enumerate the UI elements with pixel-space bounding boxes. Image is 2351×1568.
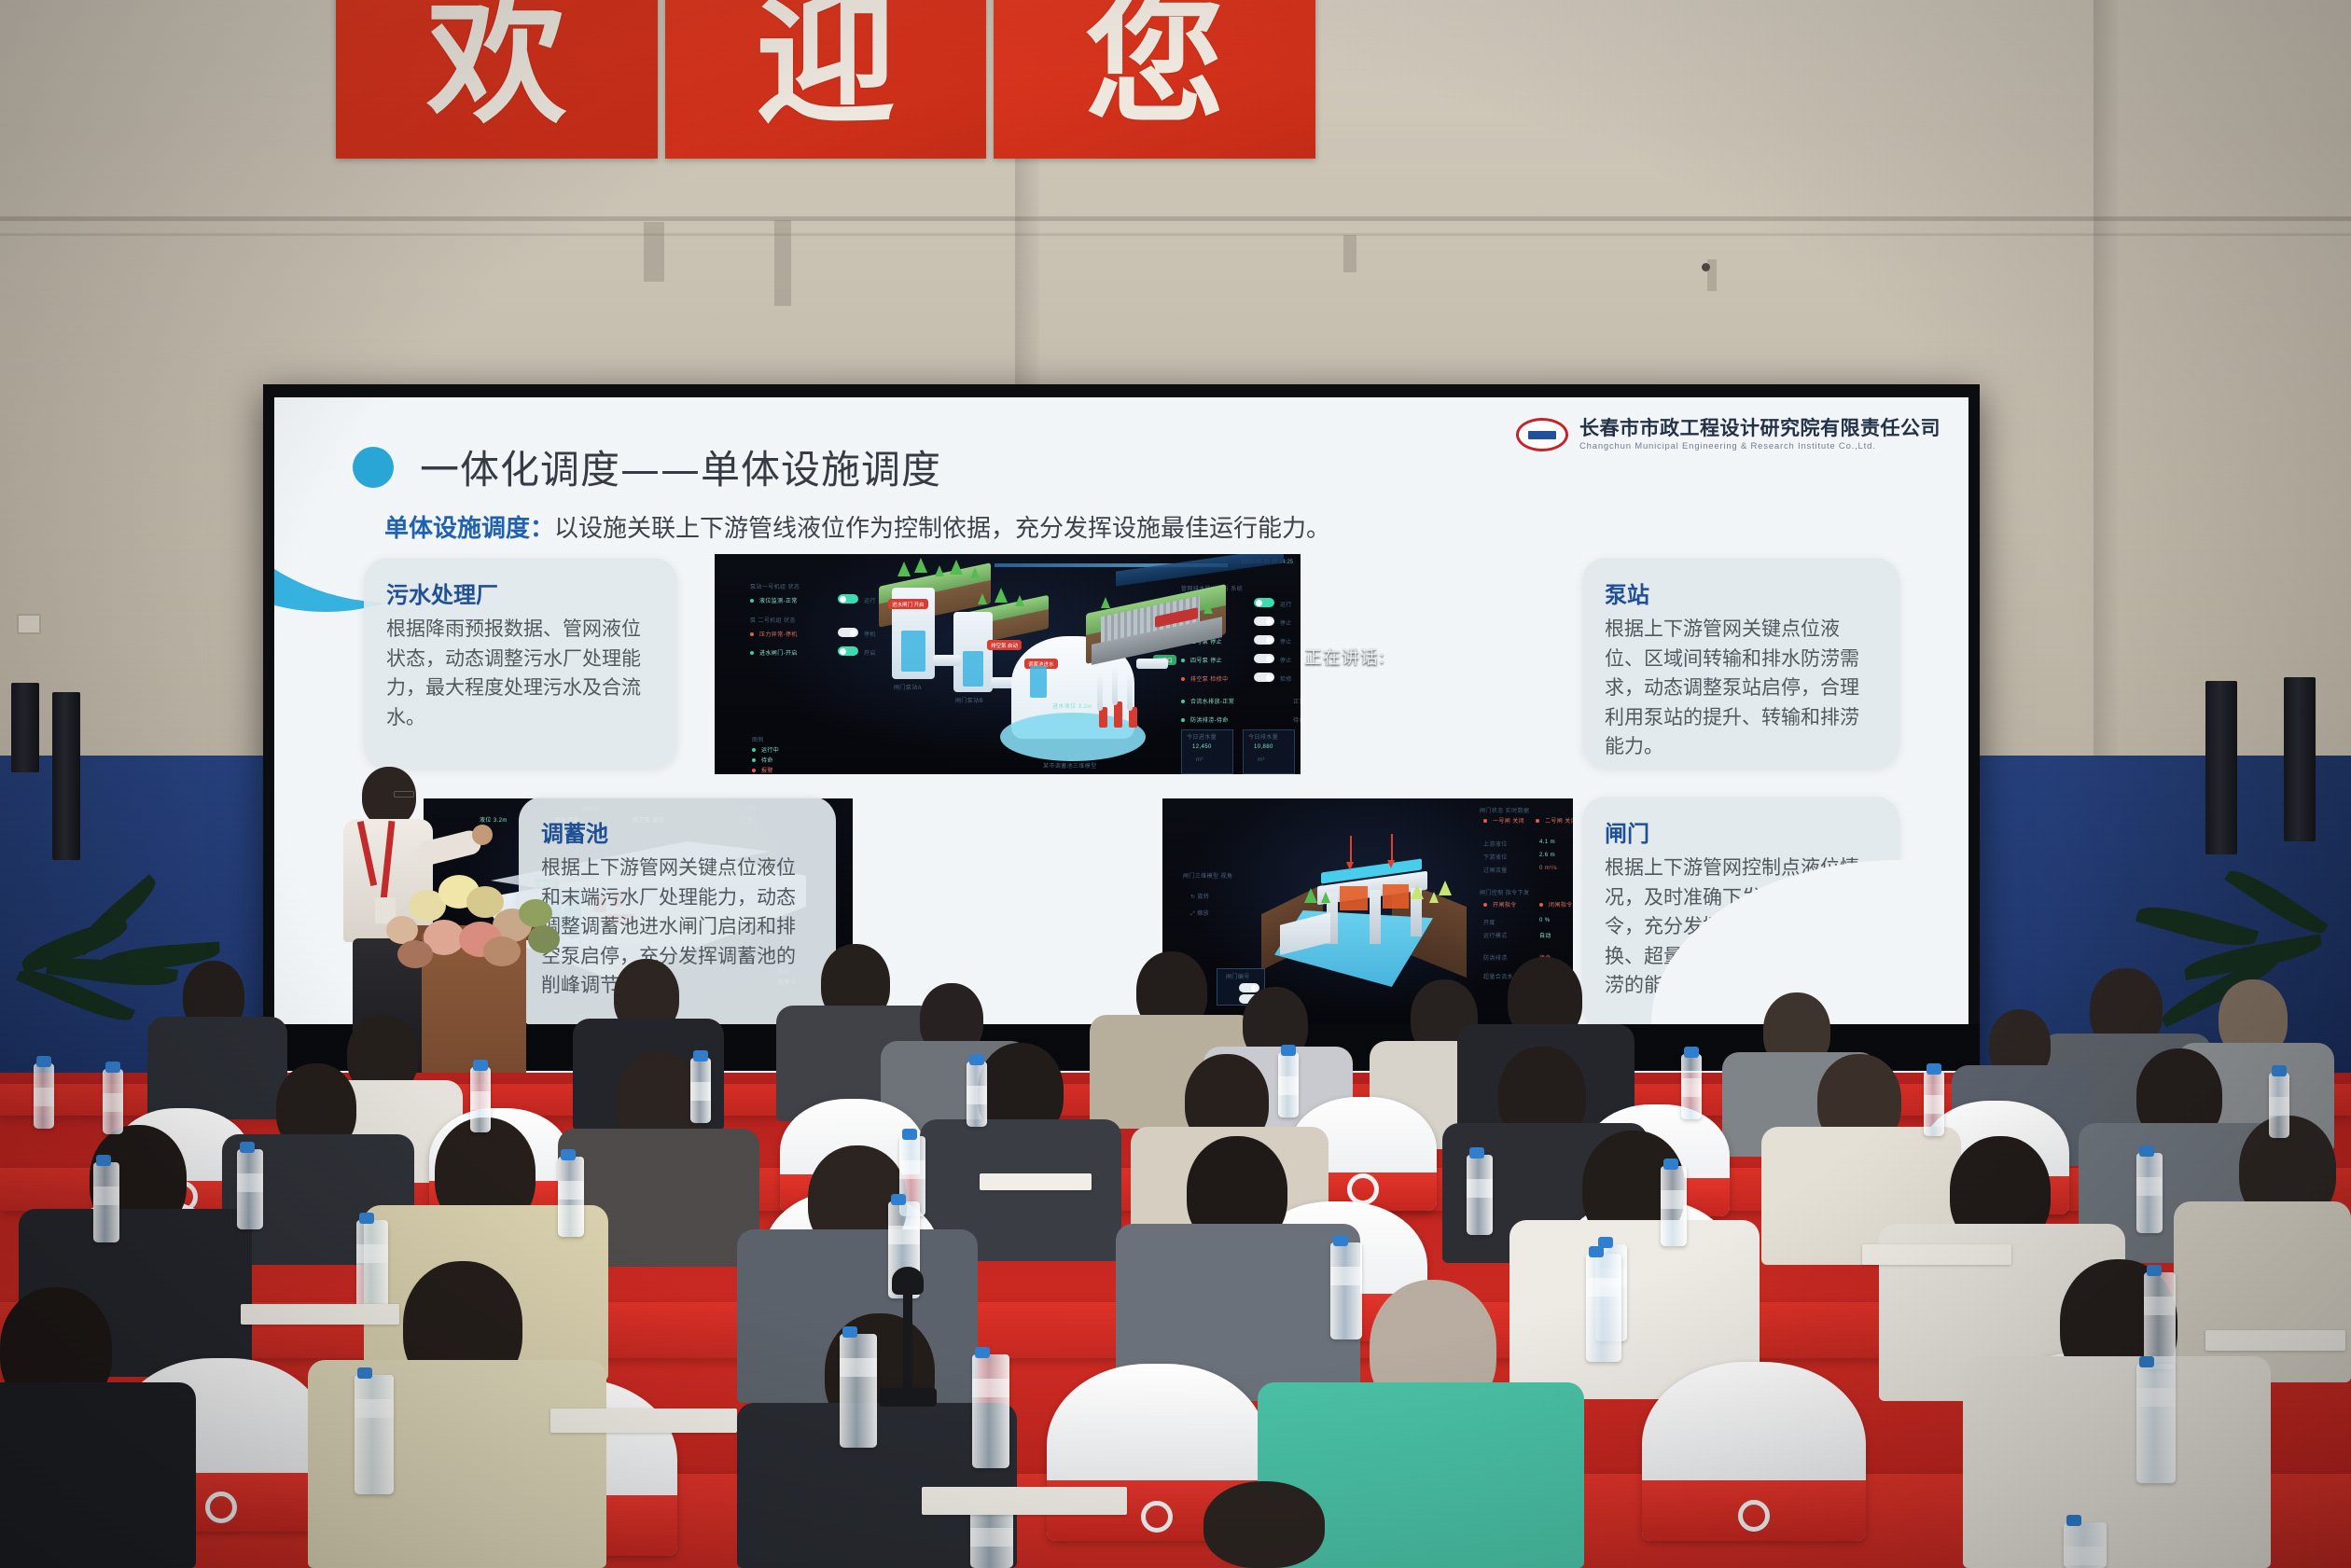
speaker-column-right-b	[2284, 677, 2316, 841]
microphone-stand	[903, 1284, 912, 1395]
gate-flow-arrow-2	[1387, 860, 1395, 868]
gate-flow-arrow-1	[1346, 862, 1354, 870]
logo-company-name-cn: 长春市市政工程设计研究院有限责任公司	[1579, 418, 1941, 438]
welcome-banner: 欢 迎 您	[336, 0, 1315, 159]
iso-tag-1: 进水闸门 开启	[888, 599, 928, 609]
document-paper	[922, 1487, 1127, 1515]
card-heading: 闸门	[1605, 815, 1877, 848]
card-pump-station: 泵站 根据上下游管网关键点位液位、区域间转输和排水防涝需求，动态调整泵站启停，合…	[1582, 558, 1899, 769]
wall-conduit-a	[1343, 235, 1356, 272]
water-bottle[interactable]	[356, 1220, 388, 1317]
banner-char-2: 迎	[756, 0, 896, 132]
subtitle-lead: 单体设施调度：	[384, 515, 554, 543]
ceiling-seam	[0, 216, 2351, 221]
water-bottle[interactable]	[470, 1067, 491, 1132]
document-paper	[550, 1408, 737, 1433]
wall-pillar-right	[2094, 0, 2118, 757]
card-heading: 调蓄池	[541, 815, 814, 848]
ceiling-seam-secondary	[0, 233, 2351, 236]
gate-open-panel-2	[1383, 884, 1409, 909]
speaker-column-left-a	[11, 683, 39, 772]
card-body: 根据上下游管网关键点位液位、区域间转输和排水防涝需求，动态调整泵站启停，合理利用…	[1605, 615, 1877, 762]
document-paper	[1862, 1244, 2011, 1265]
water-bottle[interactable]	[2144, 1272, 2176, 1369]
dashboard-toggle-2[interactable]	[838, 628, 858, 637]
water-bottle[interactable]	[558, 1157, 584, 1237]
wall-duct-right	[774, 220, 791, 306]
water-bottle[interactable]	[1924, 1071, 1944, 1136]
presenter-hand	[472, 825, 493, 845]
water-bottle[interactable]	[840, 1334, 877, 1448]
microphone-base	[879, 1388, 937, 1407]
water-bottle[interactable]	[355, 1375, 394, 1494]
water-bottle[interactable]	[1681, 1054, 1702, 1119]
banner-panel-1: 欢	[336, 0, 658, 159]
water-bottle[interactable]	[2136, 1364, 2176, 1483]
conference-hall-photo: 欢 迎 您 一体	[0, 0, 2351, 1568]
water-bottle[interactable]	[2064, 1522, 2107, 1568]
water-bottle[interactable]	[103, 1069, 123, 1134]
water-bottle[interactable]	[2269, 1073, 2289, 1138]
presenter-glasses-icon	[394, 791, 414, 798]
water-bottle[interactable]	[34, 1063, 54, 1129]
gate-toggle-1[interactable]	[1239, 983, 1259, 992]
wall-outlet	[17, 614, 41, 634]
speaking-now-label: 正在讲话:	[1304, 644, 1385, 669]
slide-subtitle: 单体设施调度：以设施关联上下游管线液位作为控制依据，充分发挥设施最佳运行能力。	[384, 509, 1330, 544]
card-heading: 污水处理厂	[386, 576, 655, 609]
wall-sensor	[1702, 263, 1710, 271]
banner-char-1: 欢	[426, 0, 566, 132]
water-bottle[interactable]	[690, 1058, 711, 1123]
banner-panel-2: 迎	[665, 0, 987, 159]
card-heading: 泵站	[1605, 576, 1877, 609]
subtitle-rest: 以设施关联上下游管线液位作为控制依据，充分发挥设施最佳运行能力。	[554, 515, 1330, 543]
water-bottle[interactable]	[972, 1354, 1009, 1468]
chair	[1642, 1362, 1866, 1541]
dashboard-toggle-4[interactable]	[1254, 598, 1274, 607]
water-bottle[interactable]	[1330, 1242, 1362, 1339]
dashboard-toggle-7[interactable]	[1254, 654, 1274, 663]
logo-company-name-en: Changchun Municipal Engineering & Resear…	[1579, 442, 1941, 451]
speaker-column-left-b	[52, 692, 80, 860]
dashboard-panel-title-left: 泵站一号机组 状态	[750, 582, 800, 590]
dashboard-toggle-3[interactable]	[838, 646, 858, 656]
document-paper	[980, 1173, 1092, 1190]
page-title: 一体化调度——单体设施调度	[420, 438, 941, 495]
banner-char-3: 您	[1085, 0, 1225, 132]
water-bottle[interactable]	[237, 1149, 263, 1229]
banner-panel-3: 您	[994, 0, 1315, 159]
water-bottle[interactable]	[967, 1062, 987, 1127]
speaker-column-right-a	[2205, 681, 2237, 854]
water-bottle[interactable]	[1586, 1254, 1621, 1362]
water-bottle[interactable]	[1278, 1052, 1299, 1117]
card-wastewater-plant: 污水处理厂 根据降雨预报数据、管网液位状态，动态调整污水厂处理能力，最大程度处理…	[364, 558, 677, 769]
gate-open-panel-1	[1340, 886, 1368, 910]
microphone-head-icon	[892, 1267, 924, 1295]
iso-tag-2: 排空泵 启动	[987, 640, 1022, 650]
water-bottle[interactable]	[1467, 1155, 1493, 1235]
company-logo: 长春市市政工程设计研究院有限责任公司 Changchun Municipal E…	[1516, 418, 1941, 451]
wall-duct-left	[644, 222, 664, 282]
dashboard-main-scada: 2023-05-23 15:34:25 泵站一号机组 状态 液位监测-正常 运行…	[715, 554, 1301, 774]
dashboard-toggle-8[interactable]	[1254, 673, 1274, 682]
logo-mark-icon	[1516, 418, 1568, 451]
card-body: 根据上下游管网关键点位液位和末端污水厂处理能力，动态调整调蓄池进水闸门启闭和排空…	[541, 853, 814, 1001]
card-body: 根据降雨预报数据、管网液位状态，动态调整污水厂处理能力，最大程度处理污水及合流水…	[386, 615, 655, 732]
slide-header: 一体化调度——单体设施调度	[353, 438, 941, 495]
document-paper	[241, 1304, 399, 1325]
flower-arrangement	[381, 867, 563, 970]
water-bottle[interactable]	[93, 1162, 119, 1242]
bullet-dot-icon	[353, 447, 394, 488]
water-bottle[interactable]	[1661, 1166, 1687, 1246]
water-bottle[interactable]	[2136, 1153, 2163, 1233]
dashboard-toggle-6[interactable]	[1254, 635, 1274, 645]
slide-content: 一体化调度——单体设施调度 长春市市政工程设计研究院有限责任公司 Changch…	[274, 397, 1968, 1084]
presentation-slide: 一体化调度——单体设施调度 长春市市政工程设计研究院有限责任公司 Changch…	[274, 397, 1968, 1084]
dashboard-toggle-1[interactable]	[838, 594, 858, 604]
dashboard-toggle-5[interactable]	[1254, 617, 1274, 626]
document-paper	[2205, 1330, 2345, 1351]
